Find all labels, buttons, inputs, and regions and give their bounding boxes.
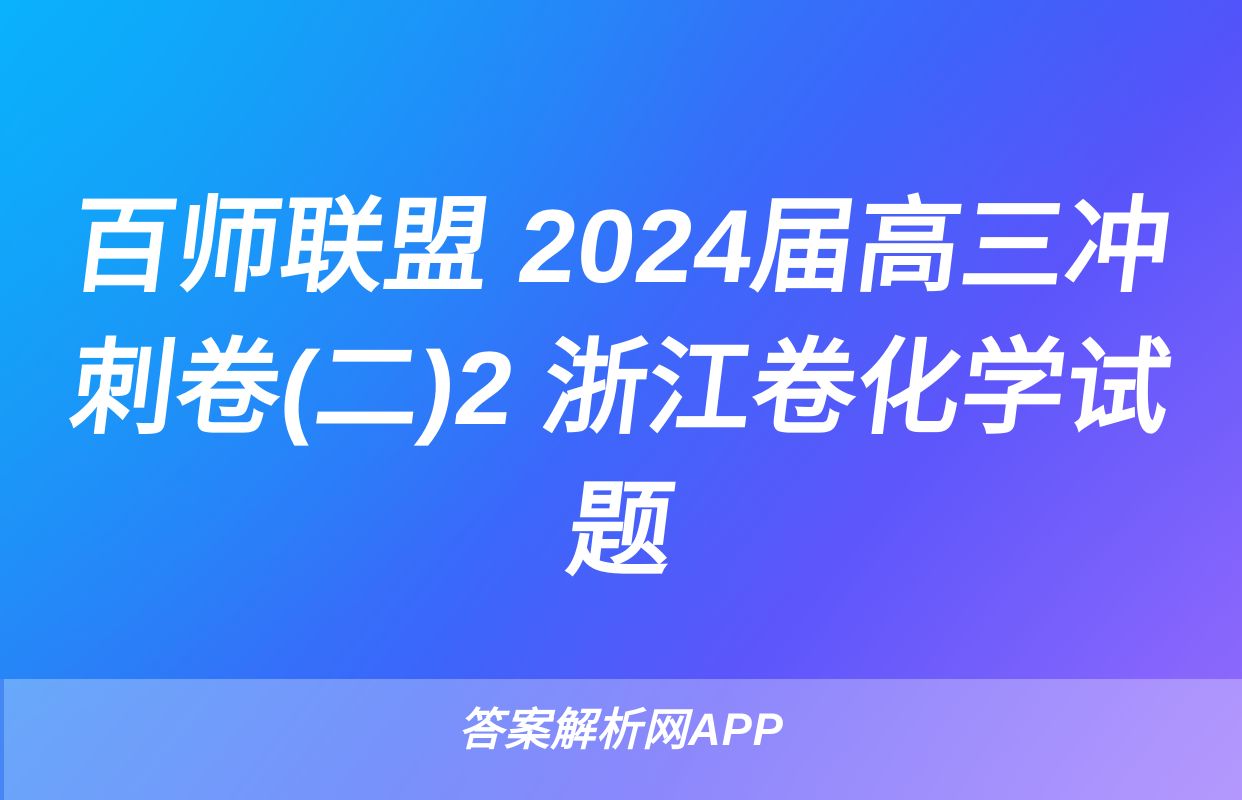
title-line-2: 刺卷(二)2 浙江卷化学试 [63,318,1178,460]
title-line-1: 百师联盟 2024届高三冲 [63,176,1178,318]
watermark-label: 答案解析网APP [0,702,1242,758]
title-line-3: 题 [63,460,1178,602]
poster-canvas: 百师联盟 2024届高三冲 刺卷(二)2 浙江卷化学试 题 答案解析网APP [0,0,1242,800]
page-title: 百师联盟 2024届高三冲 刺卷(二)2 浙江卷化学试 题 [0,176,1242,602]
